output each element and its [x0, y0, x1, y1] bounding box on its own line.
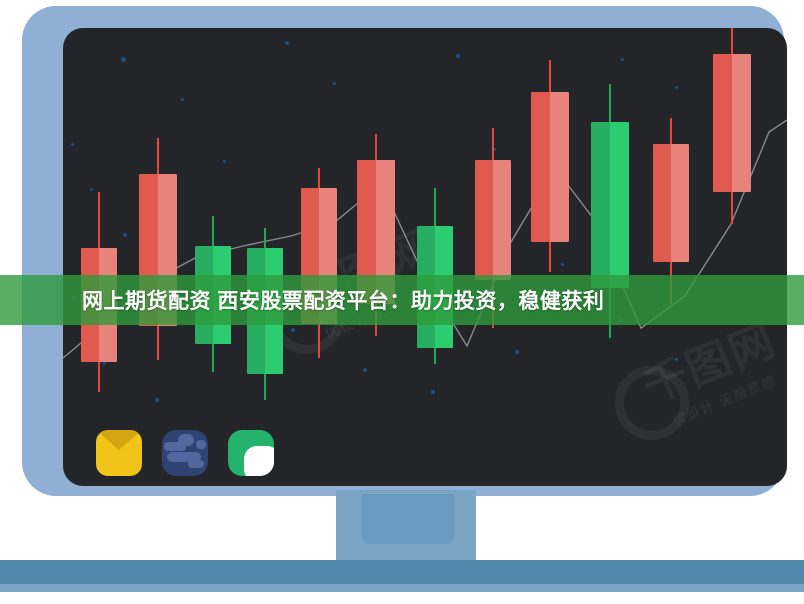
dock[interactable]: [96, 430, 274, 476]
monitor-stand-inner: [362, 494, 454, 544]
screenshot-canvas: 千图网 优设计 无限灵感 千图网 优设计 无限灵感: [0, 0, 804, 604]
decorative-dot: [123, 233, 127, 237]
candle-body: [475, 160, 511, 280]
decorative-dot: [675, 86, 678, 89]
candlestick-chart: 千图网 优设计 无限灵感 千图网 优设计 无限灵感: [63, 28, 787, 486]
status-knob: [244, 446, 274, 476]
candle-2: [139, 138, 177, 360]
globe-landmass: [188, 460, 204, 468]
decorative-dot: [285, 41, 289, 45]
monitor-screen: 千图网 优设计 无限灵感 千图网 优设计 无限灵感: [63, 28, 787, 486]
decorative-dot: [621, 58, 624, 61]
decorative-dot: [515, 350, 519, 354]
decorative-dot: [223, 160, 226, 163]
decorative-dot: [71, 143, 74, 146]
mail-flap: [96, 430, 142, 450]
browser-globe-icon[interactable]: [162, 430, 208, 476]
candle-9: [531, 60, 569, 272]
candle-5: [301, 168, 337, 358]
status-toggle-icon[interactable]: [228, 430, 274, 476]
globe-landmass: [178, 434, 194, 446]
decorative-dot: [181, 98, 184, 101]
monitor-base: [0, 560, 804, 584]
candle-body: [591, 122, 629, 288]
decorative-dot: [431, 390, 435, 394]
decorative-dot: [155, 398, 159, 402]
decorative-dot: [363, 368, 367, 372]
candle-body: [653, 144, 689, 262]
monitor-frame: 千图网 优设计 无限灵感 千图网 优设计 无限灵感: [22, 6, 784, 496]
mail-icon[interactable]: [96, 430, 142, 476]
candle-body: [713, 54, 751, 192]
candle-body: [531, 92, 569, 242]
decorative-dot: [121, 57, 126, 62]
promo-banner-text: 网上期货配资 西安股票配资平台：助力投资，稳健获利: [82, 285, 604, 315]
promo-banner: 网上期货配资 西安股票配资平台：助力投资，稳健获利: [0, 275, 804, 325]
decorative-dot: [333, 82, 336, 85]
globe-landmass: [196, 440, 206, 449]
candle-12: [713, 28, 751, 224]
decorative-dot: [90, 188, 93, 191]
monitor-base-lip: [0, 584, 804, 592]
decorative-dot: [456, 54, 460, 58]
